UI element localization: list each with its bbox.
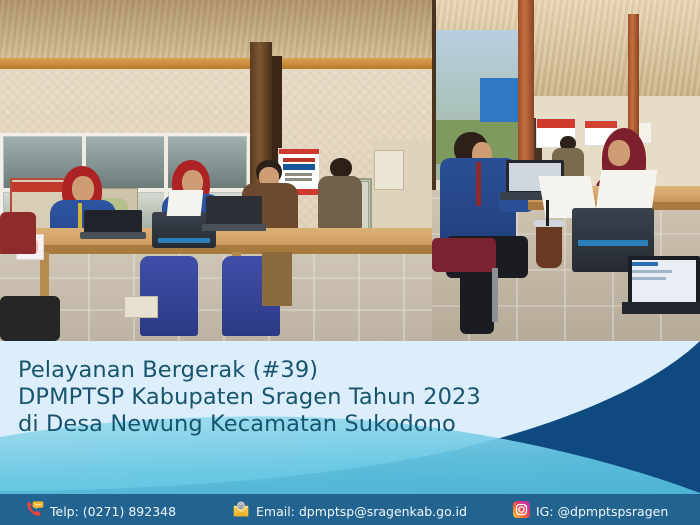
man-2-head [330,158,352,178]
svg-text:@: @ [238,504,243,510]
contact-email[interactable]: @ Email: dpmptsp@sragenkab.go.id [232,501,467,521]
sign-text-line [283,158,315,162]
laptop-4-base [622,302,700,314]
contact-phone[interactable]: Telp: (0271) 892348 [25,501,176,521]
laptop-2-screen [206,196,262,226]
banner-title: Pelayanan Bergerak (#39) DPMPTSP Kabupat… [18,357,638,438]
sign-text-line [285,178,312,181]
man-blue-leg [460,268,494,334]
contact-email-label: Email: dpmptsp@sragenkab.go.id [256,504,467,519]
woman-maroon-face [608,140,630,166]
posko-poster-header [537,119,575,128]
instagram-icon [513,501,530,521]
wooden-bench [262,252,292,306]
event-photo [0,0,700,341]
phone-chat-icon [25,501,44,521]
dark-door-frame [432,0,436,210]
laptop-4-content-line [632,262,658,266]
title-banner: Pelayanan Bergerak (#39) DPMPTSP Kabupat… [0,341,700,525]
iced-drink-cup [536,224,562,268]
man-blue-lanyard [476,162,481,206]
title-line-3: di Desa Newung Kecamatan Sukodono [18,411,638,438]
woman-1-face [72,176,94,202]
floor-tile-grid [0,249,432,341]
laptop-1-base [80,232,146,239]
title-line-1: Pelayanan Bergerak (#39) [18,357,638,384]
title-line-2: DPMPTSP Kabupaten Sragen Tahun 2023 [18,384,638,411]
contact-instagram[interactable]: IG: @dpmptspsragen [513,501,668,521]
photo-right-scene [432,0,700,341]
laptop-4-content-line [632,270,672,273]
bag-on-floor [0,296,60,341]
contact-instagram-label: IG: @dpmptspsragen [536,504,668,519]
laptop-4-content-line [632,277,666,280]
red-chair [0,212,36,254]
printer-right-accent [578,240,648,246]
printer-accent [158,238,210,243]
chair-leg [492,268,498,322]
sign-text-line [283,164,315,170]
printer-paper [167,190,204,216]
drinking-straw [546,200,549,226]
cup-lid [534,220,564,227]
ceiling-beam [0,58,432,69]
desk-edge [0,245,432,254]
floor-signboard [124,296,158,318]
photo-left-scene [0,0,432,341]
maroon-chair-seat [432,238,496,272]
sign-top-band [279,149,319,154]
contact-footer-bar: Telp: (0271) 892348 @ Email: dpmptsp@sra… [0,494,700,525]
laptop-2-base [202,224,266,231]
woman-1-lanyard [78,203,82,229]
wall-poster-2-header [585,121,617,128]
email-envelope-icon: @ [232,501,250,521]
contact-phone-label: Telp: (0271) 892348 [50,504,176,519]
sign-text-line [285,173,312,176]
right-wall-poster [374,150,404,190]
laptop-1-screen [84,210,142,234]
man-2-uniform [318,176,362,230]
poster-canvas: Pelayanan Bergerak (#39) DPMPTSP Kabupat… [0,0,700,525]
